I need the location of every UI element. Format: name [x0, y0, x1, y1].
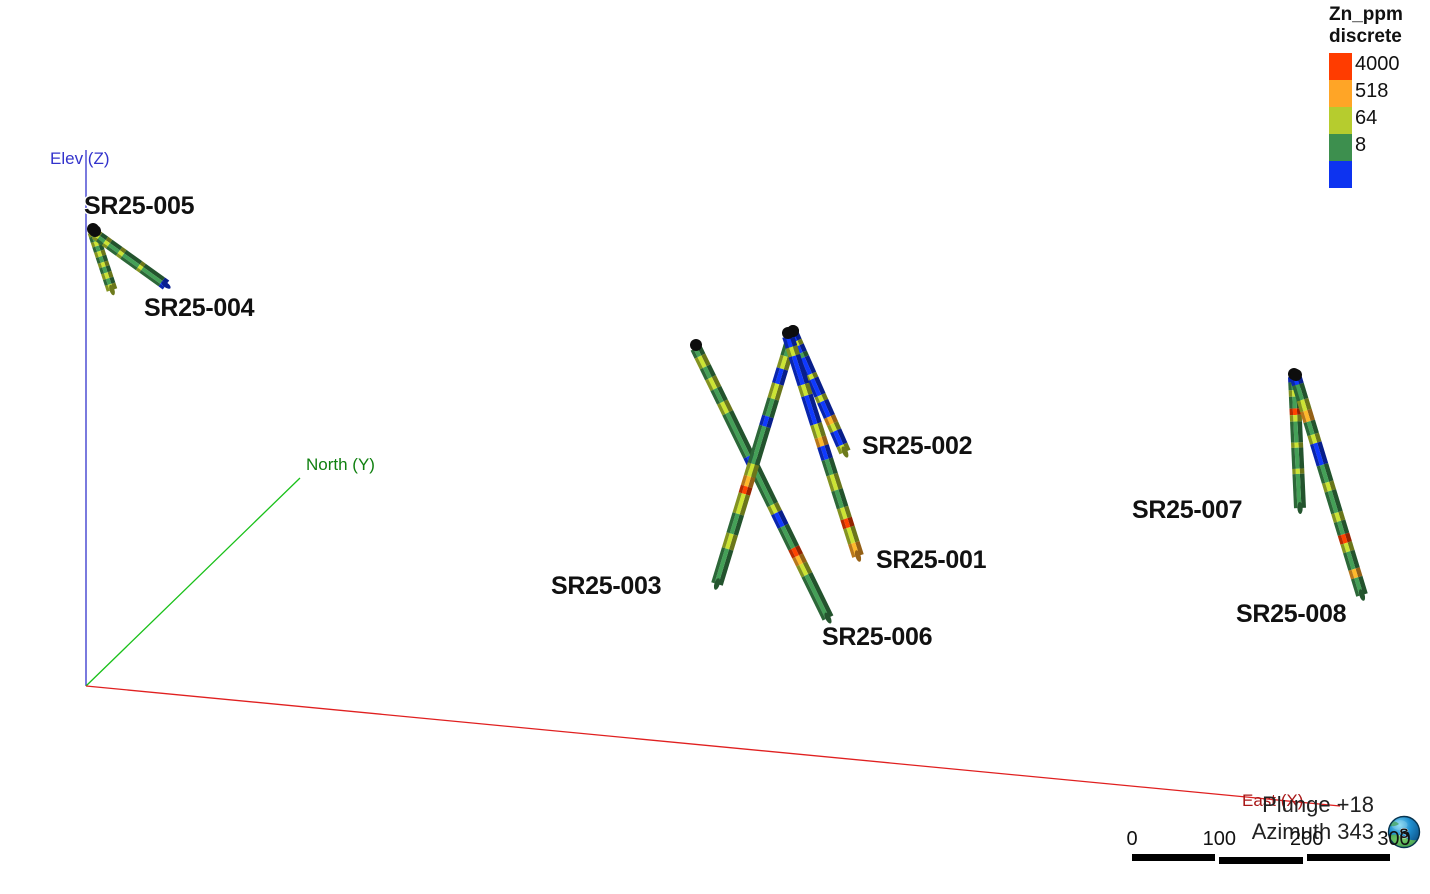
- drillhole-interval: [1290, 415, 1294, 422]
- legend-band[interactable]: [1329, 161, 1352, 188]
- legend-tick: 518: [1355, 81, 1388, 101]
- drillhole-label: SR25-001: [876, 546, 986, 575]
- scale-bar-label: 100: [1203, 828, 1236, 851]
- drillhole-interval: [1289, 390, 1293, 397]
- legend-colorbar[interactable]: 4000518648: [1329, 53, 1424, 188]
- collar-marker[interactable]: [690, 339, 702, 351]
- legend-band[interactable]: [1329, 107, 1352, 134]
- drillhole-interval: [1292, 469, 1296, 474]
- drillhole-interval: [1300, 468, 1305, 473]
- drillhole-interval: [1299, 447, 1305, 468]
- legend-band[interactable]: [1329, 53, 1352, 80]
- drillhole-interval: [1298, 442, 1303, 447]
- drillhole-interval: [1288, 382, 1292, 390]
- drillhole-interval: [805, 574, 830, 619]
- scale-bar: 0100200300: [1132, 828, 1394, 874]
- drillhole-trace[interactable]: [711, 332, 798, 590]
- drillhole-interval: [725, 412, 750, 457]
- collar-marker[interactable]: [1290, 369, 1302, 381]
- legend-band[interactable]: [1329, 80, 1352, 107]
- scale-bar-label: 300: [1377, 828, 1410, 851]
- drillhole-interval: [1291, 443, 1295, 448]
- drillhole-traces[interactable]: [88, 230, 1368, 625]
- legend-tick-labels: 4000518648: [1352, 53, 1424, 188]
- drillhole-interval: [1293, 408, 1297, 415]
- scale-bar-label: 200: [1290, 828, 1323, 851]
- scale-bar-track: [1132, 854, 1394, 861]
- drillhole-label: SR25-006: [822, 623, 932, 652]
- scale-bar-label: 0: [1126, 828, 1137, 851]
- drillhole-label: SR25-002: [862, 432, 972, 461]
- legend-title: Zn_ppm discrete: [1329, 4, 1403, 47]
- drillhole-interval: [1296, 469, 1300, 474]
- drillhole-label: SR25-008: [1236, 600, 1346, 629]
- legend-tick: 4000: [1355, 54, 1400, 74]
- drillhole-label: SR25-003: [551, 572, 661, 601]
- scale-bar-segment: [1307, 854, 1390, 861]
- legend-tick: 64: [1355, 108, 1377, 128]
- collar-marker[interactable]: [89, 225, 101, 237]
- drillhole-label: SR25-007: [1132, 496, 1242, 525]
- drillhole-interval: [1293, 415, 1297, 422]
- scale-bar-segment: [1219, 857, 1302, 864]
- axis-label-north: North (Y): [306, 455, 375, 475]
- drillhole-interval: [1289, 409, 1293, 416]
- axis-line-north: [86, 478, 300, 686]
- scene-canvas[interactable]: [0, 0, 1430, 894]
- scale-bar-segment: [1132, 854, 1215, 861]
- drillhole-label: SR25-005: [84, 192, 194, 221]
- axis-tripod: [86, 150, 1340, 806]
- legend-tick: 8: [1355, 135, 1366, 155]
- axis-label-elevation: Elev (Z): [50, 149, 110, 169]
- drillhole-interval: [1289, 397, 1293, 409]
- drillhole-3d-viewport[interactable]: Elev (Z) North (Y) East (X) SR25-005SR25…: [0, 0, 1430, 894]
- axis-line-east: [86, 686, 1340, 806]
- plunge-readout: Plunge +18: [1252, 792, 1374, 819]
- legend-band[interactable]: [1329, 134, 1352, 161]
- drillhole-interval: [1297, 421, 1303, 442]
- legend[interactable]: Zn_ppm discrete 4000518648: [1319, 4, 1424, 188]
- drillhole-trace[interactable]: [782, 334, 863, 562]
- legend-color-ramp[interactable]: [1329, 53, 1352, 188]
- scale-bar-labels: 0100200300: [1132, 828, 1394, 852]
- drillhole-label: SR25-004: [144, 294, 254, 323]
- drillhole-interval: [1294, 442, 1298, 447]
- collar-marker[interactable]: [782, 327, 794, 339]
